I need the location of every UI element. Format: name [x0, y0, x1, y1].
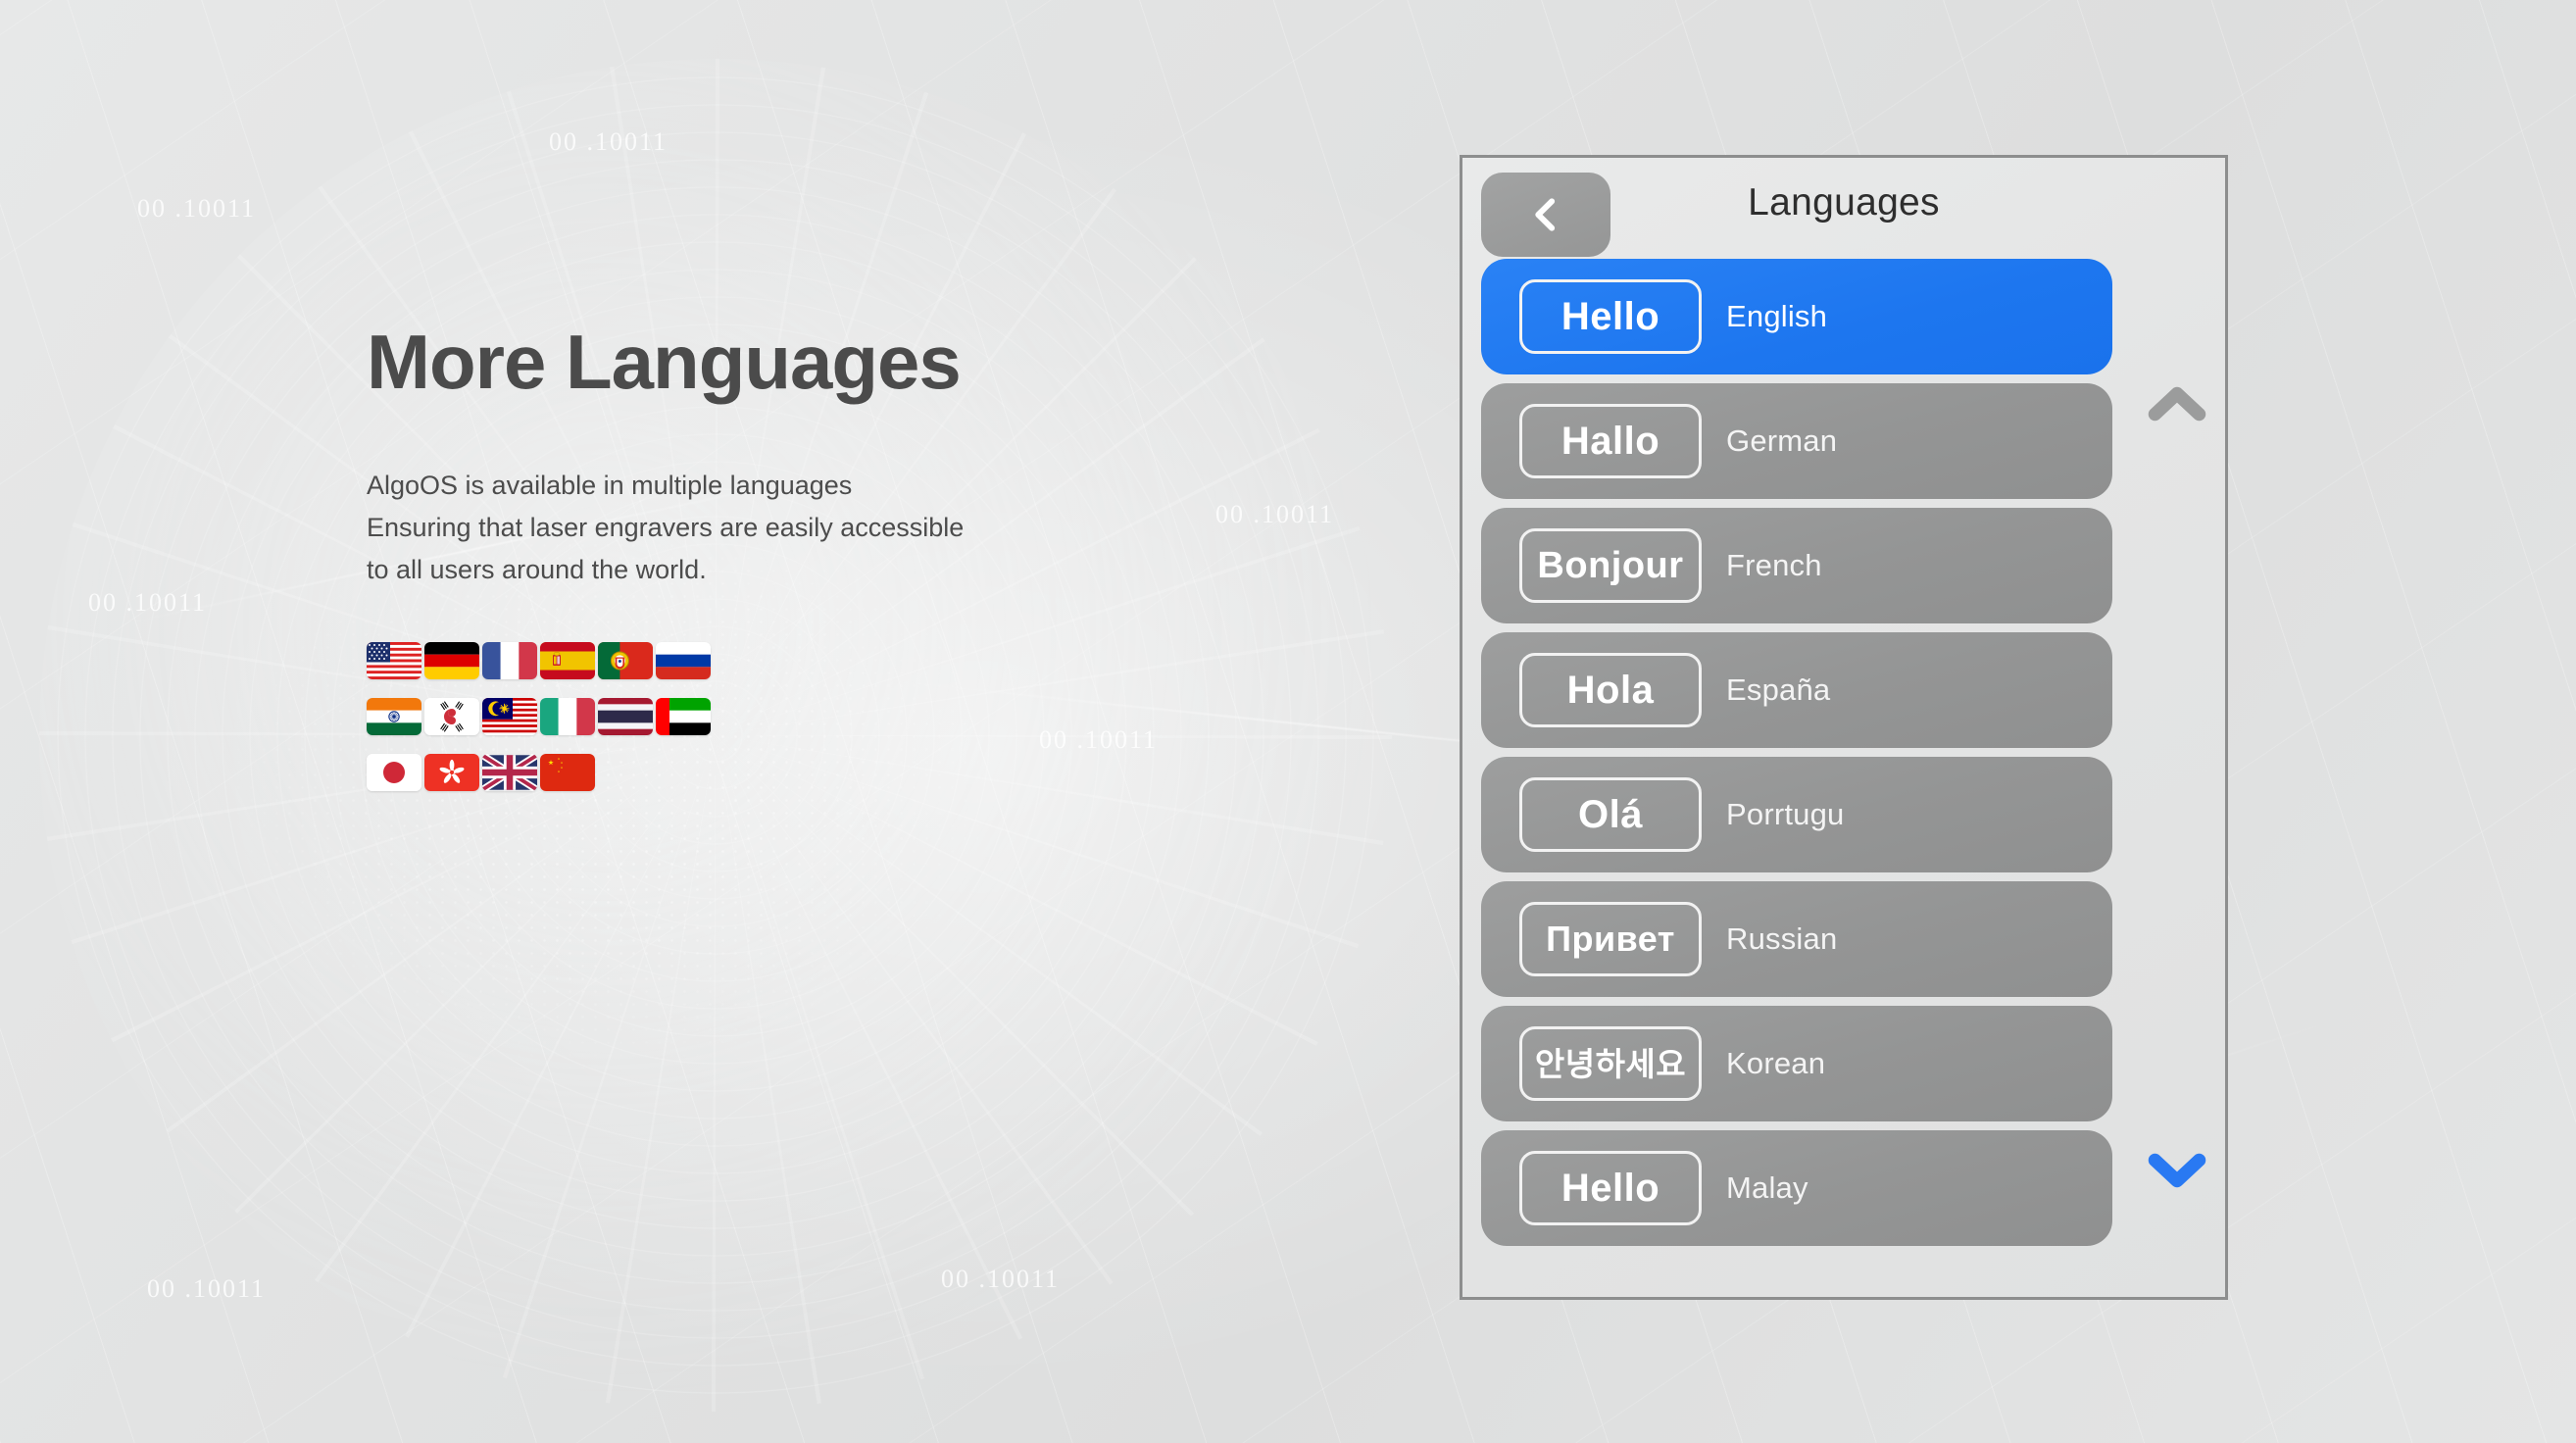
flag-japan — [367, 754, 421, 791]
language-name: German — [1726, 423, 1837, 459]
binary-motif: 00 .10011 — [941, 1265, 1060, 1294]
greeting-chip: Bonjour — [1519, 528, 1702, 603]
flag-china — [540, 754, 595, 791]
panel-header: Languages — [1462, 158, 2225, 259]
flag-south-korea — [424, 698, 479, 735]
language-row[interactable]: BonjourFrench — [1481, 508, 2112, 623]
flag-russia — [656, 642, 711, 679]
page-title: More Languages — [367, 323, 1249, 400]
language-row[interactable]: HalloGerman — [1481, 383, 2112, 499]
language-name: French — [1726, 548, 1822, 583]
greeting-text: Привет — [1546, 921, 1675, 957]
greeting-text: Hola — [1567, 671, 1655, 710]
flag-portugal — [598, 642, 653, 679]
language-row[interactable]: HelloEnglish — [1481, 259, 2112, 374]
greeting-chip: 안녕하세요 — [1519, 1026, 1702, 1101]
flag-usa — [367, 642, 421, 679]
flag-germany — [424, 642, 479, 679]
hero-subline-2: Ensuring that laser engravers are easily… — [367, 507, 1249, 549]
language-row[interactable]: HolaEspaña — [1481, 632, 2112, 748]
chevron-down-icon — [2148, 1147, 2206, 1194]
greeting-text: Hallo — [1561, 422, 1660, 461]
greeting-chip: Hello — [1519, 1151, 1702, 1225]
flag-malaysia — [482, 698, 537, 735]
language-list[interactable]: HelloEnglishHalloGermanBonjourFrenchHola… — [1481, 259, 2112, 1255]
greeting-chip: Hello — [1519, 279, 1702, 354]
binary-motif: 00 .10011 — [147, 1274, 266, 1304]
flag-italy — [540, 698, 595, 735]
greeting-chip: Привет — [1519, 902, 1702, 976]
greeting-text: Hello — [1561, 1169, 1660, 1208]
flag-row — [367, 698, 1249, 735]
hero-subline-3: to all users around the world. — [367, 549, 1249, 591]
flag-grid — [367, 642, 1249, 791]
binary-motif: 00 .10011 — [549, 127, 668, 157]
flag-thailand — [598, 698, 653, 735]
hero-subline-1: AlgoOS is available in multiple language… — [367, 465, 1249, 507]
greeting-text: 안녕하세요 — [1535, 1048, 1686, 1080]
greeting-chip: Olá — [1519, 777, 1702, 852]
language-name: Malay — [1726, 1170, 1808, 1206]
language-name: Russian — [1726, 921, 1837, 957]
scroll-down-button[interactable] — [2148, 1147, 2206, 1194]
language-settings-panel: Languages HelloEnglishHalloGermanBonjour… — [1460, 155, 2228, 1300]
language-name: España — [1726, 672, 1830, 708]
language-row[interactable]: OláPorrtugu — [1481, 757, 2112, 872]
flag-spain — [540, 642, 595, 679]
language-name: English — [1726, 299, 1827, 334]
flag-india — [367, 698, 421, 735]
greeting-chip: Hola — [1519, 653, 1702, 727]
language-name: Korean — [1726, 1046, 1825, 1081]
language-row[interactable]: ПриветRussian — [1481, 881, 2112, 997]
flag-row — [367, 754, 1249, 791]
flag-uae — [656, 698, 711, 735]
greeting-text: Olá — [1578, 795, 1643, 834]
greeting-text: Bonjour — [1537, 547, 1683, 584]
chevron-up-icon — [2148, 380, 2206, 427]
binary-motif: 00 .10011 — [88, 588, 207, 618]
panel-title: Languages — [1462, 181, 2225, 224]
language-row[interactable]: 안녕하세요Korean — [1481, 1006, 2112, 1121]
greeting-text: Hello — [1561, 297, 1660, 336]
greeting-chip: Hallo — [1519, 404, 1702, 478]
flag-united-kingdom — [482, 754, 537, 791]
language-row[interactable]: HelloMalay — [1481, 1130, 2112, 1246]
flag-row — [367, 642, 1249, 679]
scroll-up-button[interactable] — [2148, 380, 2206, 427]
flag-hong-kong — [424, 754, 479, 791]
language-name: Porrtugu — [1726, 797, 1845, 832]
hero-section: More Languages AlgoOS is available in mu… — [367, 323, 1249, 810]
flag-france — [482, 642, 537, 679]
binary-motif: 00 .10011 — [137, 194, 256, 224]
